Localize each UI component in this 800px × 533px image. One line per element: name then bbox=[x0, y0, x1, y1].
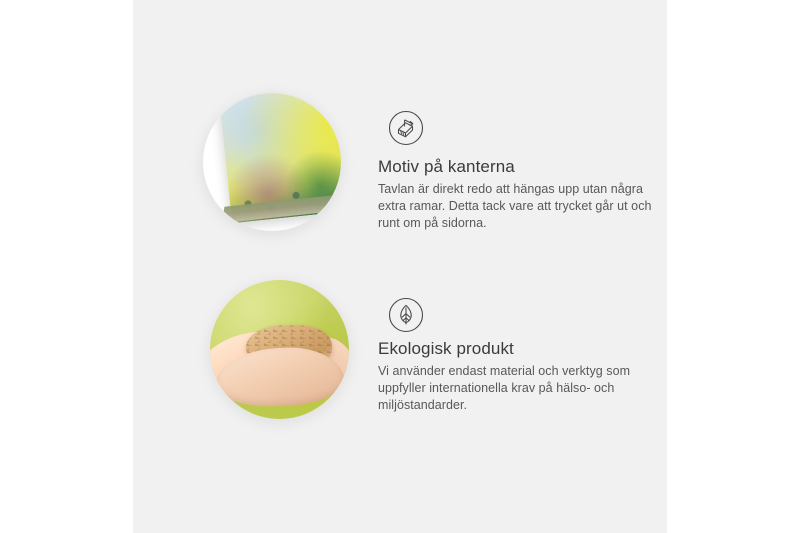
canvas-corner-photo bbox=[203, 93, 341, 231]
feature-body: Tavlan är direkt redo att hängas upp uta… bbox=[378, 181, 658, 232]
product-feature-banner: Motiv på kanterna Tavlan är direkt redo … bbox=[0, 0, 800, 533]
canvas-wrapped-edges-icon bbox=[388, 110, 424, 146]
feature-heading: Ekologisk produkt bbox=[378, 338, 658, 360]
feature-text-column: Motiv på kanterna Tavlan är direkt redo … bbox=[378, 156, 658, 232]
feature-body: Vi använder endast material och verktyg … bbox=[378, 363, 658, 414]
feature-heading: Motiv på kanterna bbox=[378, 156, 658, 178]
leaf-icon bbox=[388, 297, 424, 333]
feature-text-column: Ekologisk produkt Vi använder endast mat… bbox=[378, 338, 658, 414]
hands-holding-wood-chips-photo bbox=[210, 280, 349, 419]
green-meadow-background bbox=[210, 280, 349, 419]
background-panel bbox=[133, 0, 667, 533]
